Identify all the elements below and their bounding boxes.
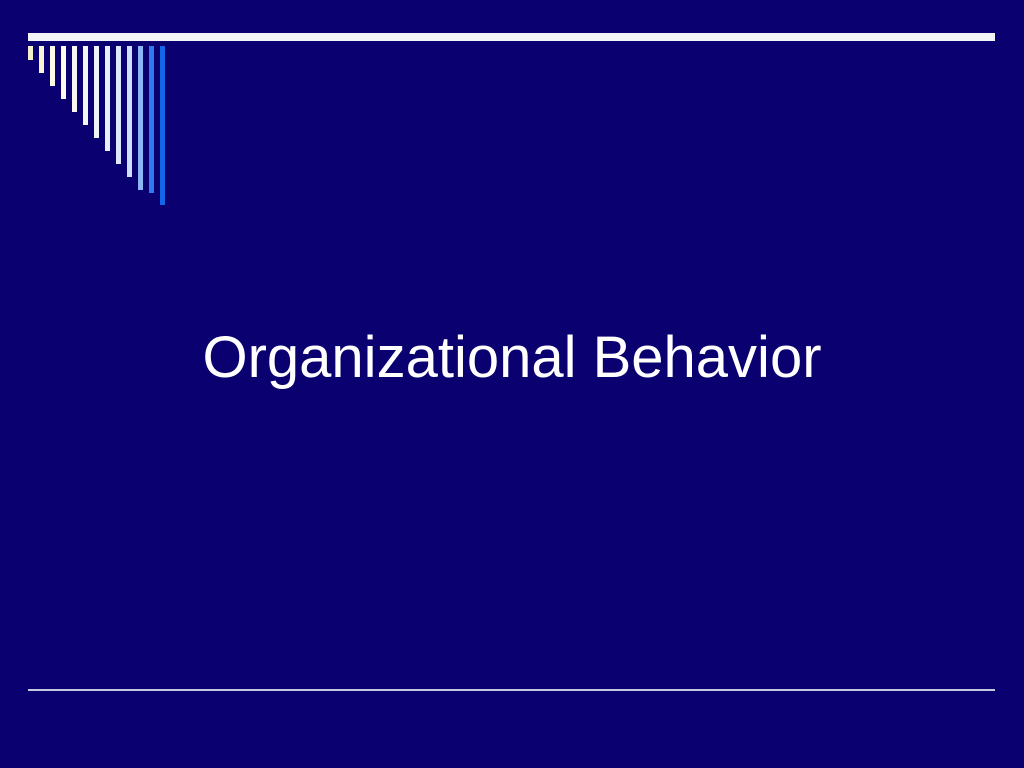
motif-bar <box>83 46 88 125</box>
motif-bar <box>127 46 132 177</box>
title-block: Organizational Behavior <box>0 326 1024 391</box>
slide-canvas: Organizational Behavior <box>0 0 1024 768</box>
descending-bars-motif <box>28 46 178 216</box>
bottom-horizontal-rule <box>28 689 995 691</box>
motif-bar <box>61 46 66 99</box>
motif-bar <box>72 46 77 112</box>
motif-bar <box>50 46 55 86</box>
motif-bar <box>138 46 143 190</box>
page-title: Organizational Behavior <box>202 326 821 391</box>
motif-bar <box>149 46 154 193</box>
top-horizontal-rule <box>28 33 995 41</box>
motif-bar <box>105 46 110 151</box>
motif-bar <box>28 46 33 60</box>
motif-bar <box>160 46 165 205</box>
motif-bar <box>39 46 44 73</box>
motif-bar <box>116 46 121 164</box>
motif-bar <box>94 46 99 138</box>
